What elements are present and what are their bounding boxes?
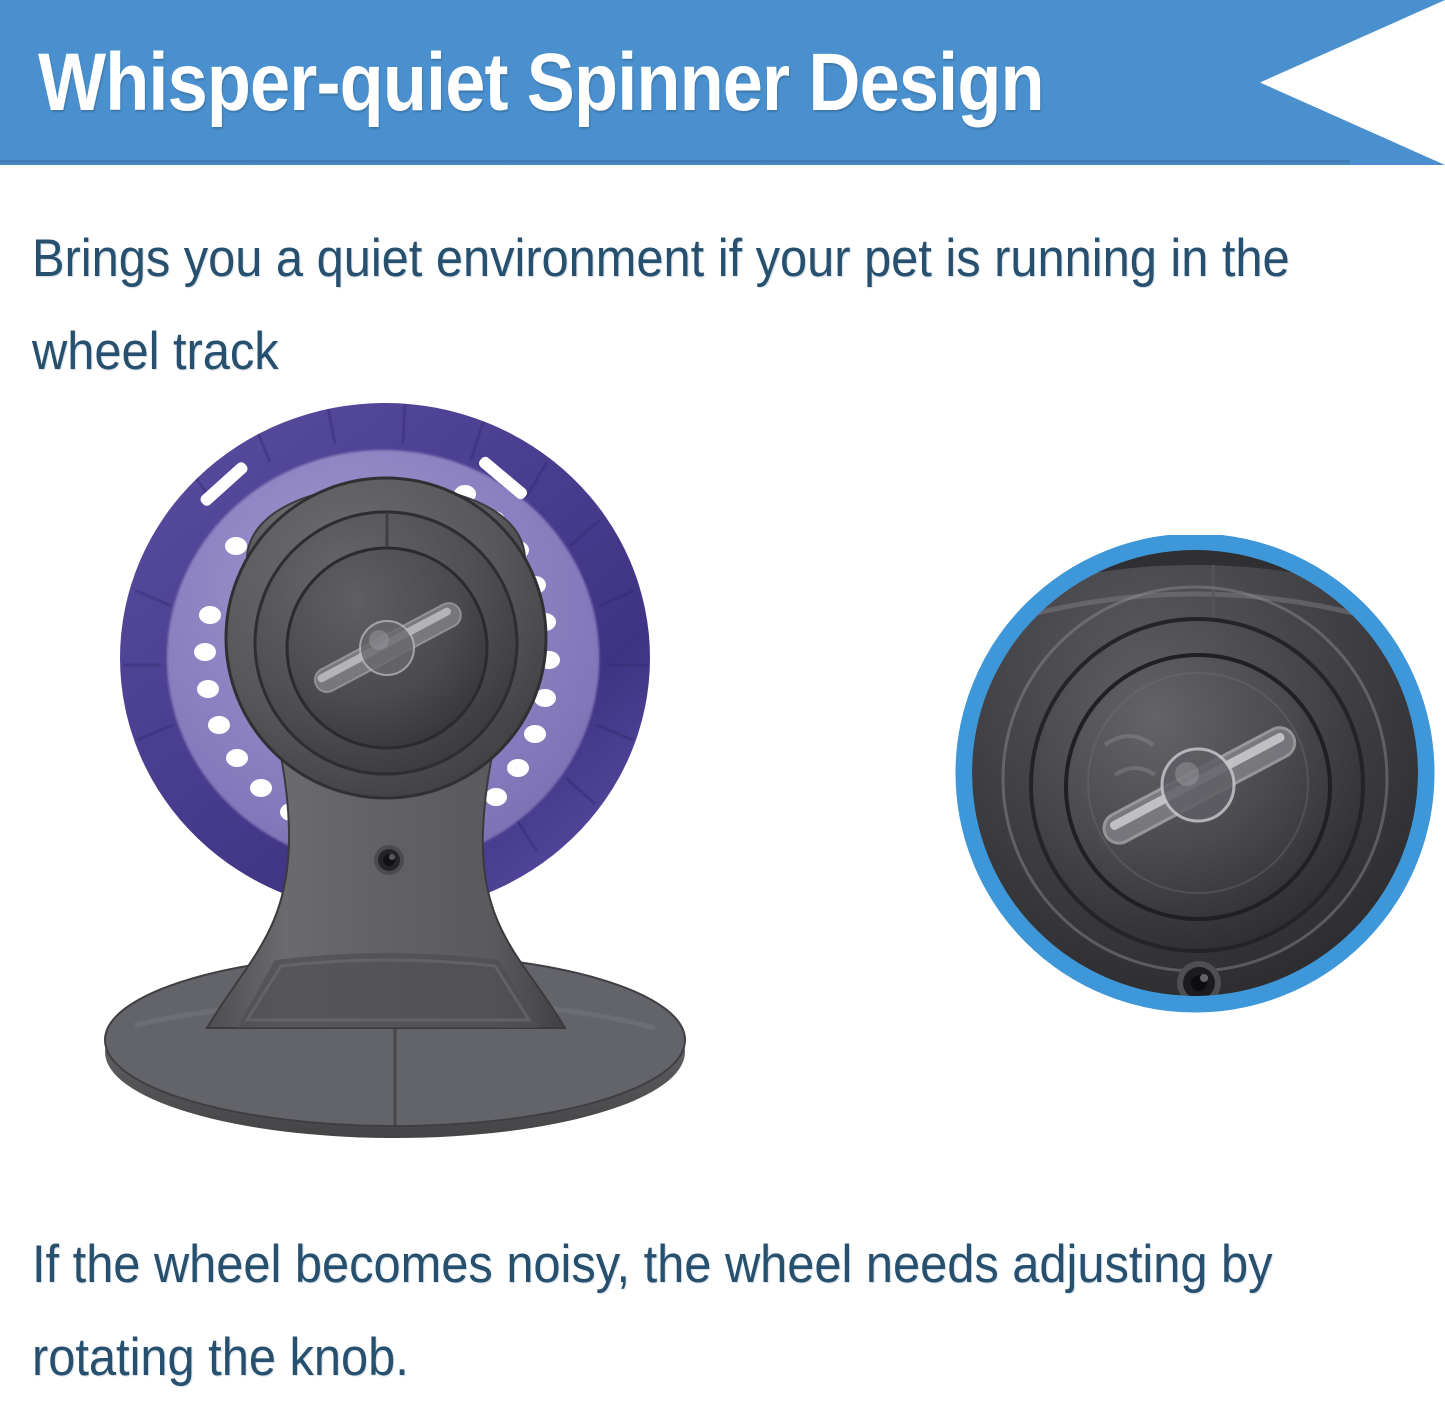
knob-zoom-illustration xyxy=(955,535,1435,1020)
banner-shadow-divider xyxy=(0,160,1350,166)
header-banner: Whisper-quiet Spinner Design xyxy=(0,0,1445,165)
left-pointing-arrow-notch-icon xyxy=(1260,0,1445,165)
product-photo xyxy=(95,400,735,1140)
stand-column-foot-panel xyxy=(237,953,539,1028)
product-photo-illustration xyxy=(95,400,735,1140)
description-paragraph-bottom: If the wheel becomes noisy, the wheel ne… xyxy=(32,1218,1430,1404)
description-paragraph-top: Brings you a quiet environment if your p… xyxy=(32,212,1430,398)
page-title: Whisper-quiet Spinner Design xyxy=(38,28,1044,138)
screw-bolt-icon xyxy=(374,845,404,875)
knob-zoom-inset xyxy=(955,535,1435,1020)
